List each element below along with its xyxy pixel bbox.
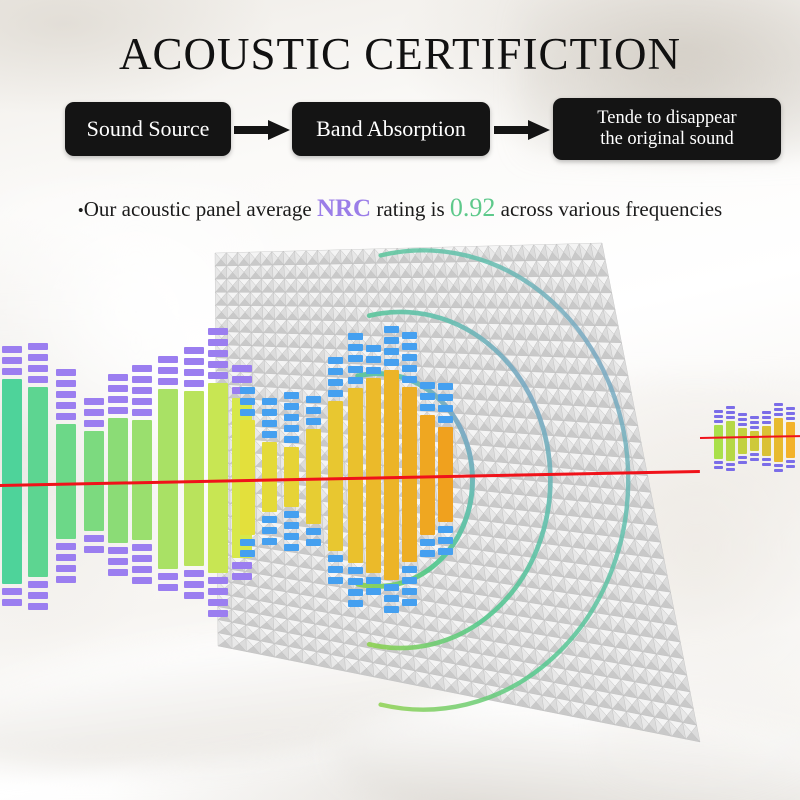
flow-step-band-absorption[interactable]: Band Absorption — [292, 102, 490, 156]
flow-step-label: Sound Source — [87, 117, 210, 142]
nrc-value: 0.92 — [450, 193, 496, 222]
sound-arc — [369, 312, 550, 648]
nrc-term: NRC — [317, 195, 371, 222]
flow-step-label: Band Absorption — [316, 117, 466, 142]
flow-step-sound-source[interactable]: Sound Source — [65, 102, 231, 156]
nrc-claim: •Our acoustic panel average NRC rating i… — [0, 193, 800, 223]
flow-step-label-line2: the original sound — [597, 129, 736, 150]
claim-suffix: across various frequencies — [495, 197, 722, 221]
sound-arc — [358, 374, 473, 587]
arrow-right-icon — [234, 120, 290, 140]
process-flow: Sound Source Band Absorption Tende to di… — [0, 98, 800, 162]
flow-step-label-line1: Tende to disappear — [597, 108, 736, 129]
poster-canvas: ACOUSTIC CERTIFICTION Sound Source Band … — [0, 0, 800, 800]
claim-prefix: Our acoustic panel average — [84, 197, 317, 221]
flow-step-disappear[interactable]: Tende to disappear the original sound — [553, 98, 781, 160]
sound-arc — [381, 250, 629, 709]
arrow-right-icon — [494, 120, 550, 140]
claim-middle: rating is — [371, 197, 450, 221]
page-title: ACOUSTIC CERTIFICTION — [0, 28, 800, 80]
